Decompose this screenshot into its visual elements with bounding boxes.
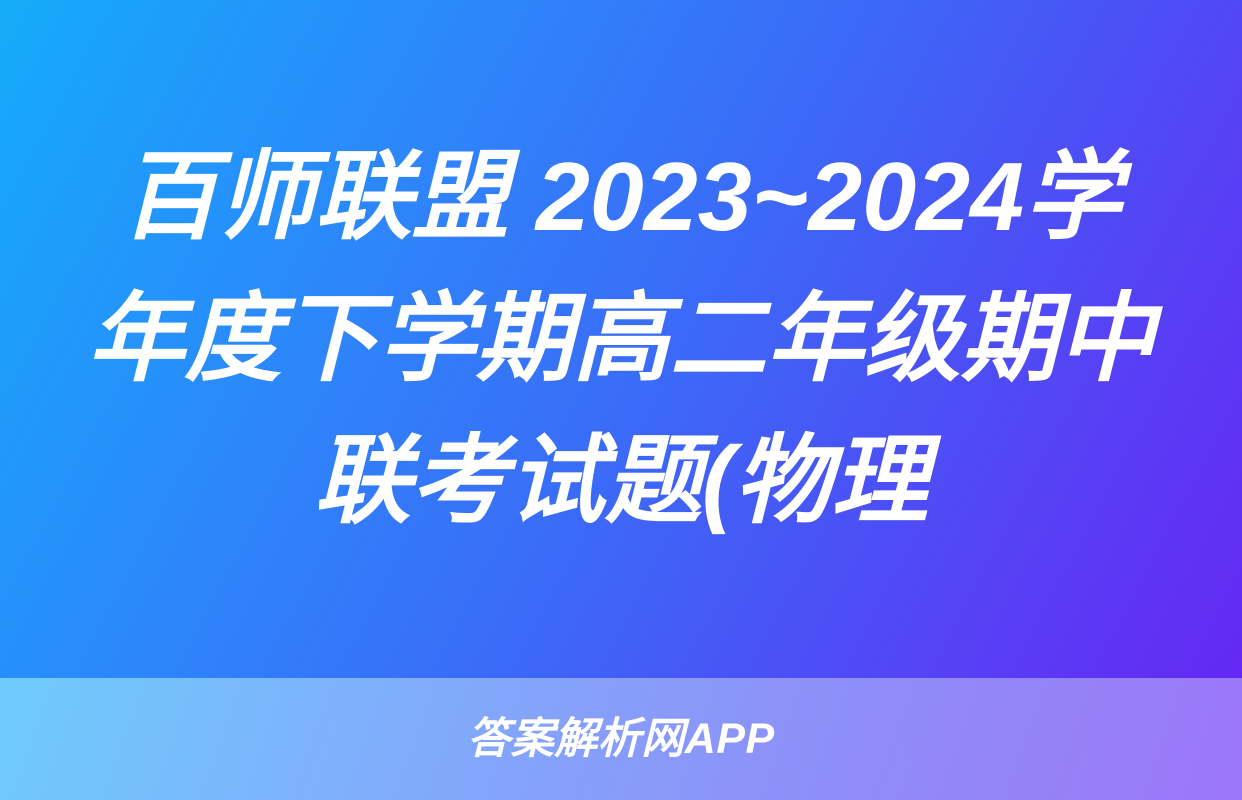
- watermark-band: 答案解析网APP: [0, 678, 1242, 800]
- watermark-label: 答案解析网APP: [467, 714, 774, 764]
- title-line-1: 百师联盟 2023~2024学: [74, 126, 1168, 268]
- hero-gradient-panel: 百师联盟 2023~2024学 年度下学期高二年级期中 联考试题(物理: [0, 0, 1242, 678]
- poster-title: 百师联盟 2023~2024学 年度下学期高二年级期中 联考试题(物理: [66, 126, 1176, 552]
- poster-image: 百师联盟 2023~2024学 年度下学期高二年级期中 联考试题(物理 答案解析…: [0, 0, 1242, 800]
- title-line-2: 年度下学期高二年级期中: [74, 268, 1168, 410]
- title-line-3: 联考试题(物理: [74, 410, 1168, 552]
